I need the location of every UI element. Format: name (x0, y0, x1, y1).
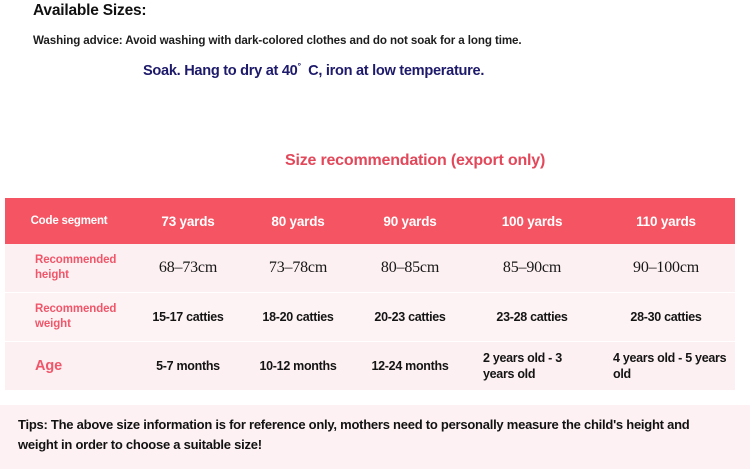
cell-height-110: 90–100cm (597, 244, 735, 293)
row-label-age: Age (5, 342, 133, 391)
table-row: Age 5-7 months 10-12 months 12-24 months… (5, 342, 735, 391)
page-title: Available Sizes: (33, 2, 146, 20)
cell-weight-100: 23-28 catties (467, 293, 597, 342)
table-row: Recommended weight 15-17 catties 18-20 c… (5, 293, 735, 342)
row-label-recommended-height: Recommended height (5, 244, 133, 293)
size-chart-table: Code segment 73 yards 80 yards 90 yards … (5, 198, 735, 390)
washing-advice-text: Washing advice: Avoid washing with dark-… (33, 34, 522, 47)
cell-height-100: 85–90cm (467, 244, 597, 293)
cell-height-73: 68–73cm (133, 244, 243, 293)
soak-text-part-one: Soak. Hang to dry at 40 (143, 63, 298, 79)
cell-weight-90: 20-23 catties (353, 293, 467, 342)
cell-weight-110: 28-30 catties (597, 293, 735, 342)
column-header-110-yards: 110 yards (597, 198, 735, 244)
size-recommendation-heading: Size recommendation (export only) (285, 152, 545, 170)
tips-text: Tips: The above size information is for … (18, 415, 732, 454)
column-header-90-yards: 90 yards (353, 198, 467, 244)
cell-age-80: 10-12 months (243, 342, 353, 391)
care-instructions-block: Available Sizes: Washing advice: Avoid w… (0, 0, 750, 140)
column-header-80-yards: 80 yards (243, 198, 353, 244)
column-header-100-yards: 100 yards (467, 198, 597, 244)
soak-instruction-text: Soak. Hang to dry at 40°C, iron at low t… (143, 61, 484, 79)
cell-height-90: 80–85cm (353, 244, 467, 293)
cell-weight-73: 15-17 catties (133, 293, 243, 342)
cell-age-110: 4 years old - 5 years old (597, 342, 735, 391)
cell-height-80: 73–78cm (243, 244, 353, 293)
table-row: Recommended height 68–73cm 73–78cm 80–85… (5, 244, 735, 293)
degree-symbol: ° (298, 61, 302, 71)
column-header-code-segment: Code segment (5, 198, 133, 244)
cell-age-90: 12-24 months (353, 342, 467, 391)
cell-age-73: 5-7 months (133, 342, 243, 391)
cell-age-100: 2 years old - 3 years old (467, 342, 597, 391)
size-chart-page: Available Sizes: Washing advice: Avoid w… (0, 0, 750, 469)
soak-text-part-two: C, iron at low temperature. (308, 63, 484, 79)
tips-block: Tips: The above size information is for … (0, 405, 750, 469)
row-label-recommended-weight: Recommended weight (5, 293, 133, 342)
table-header-row: Code segment 73 yards 80 yards 90 yards … (5, 198, 735, 244)
cell-weight-80: 18-20 catties (243, 293, 353, 342)
column-header-73-yards: 73 yards (133, 198, 243, 244)
